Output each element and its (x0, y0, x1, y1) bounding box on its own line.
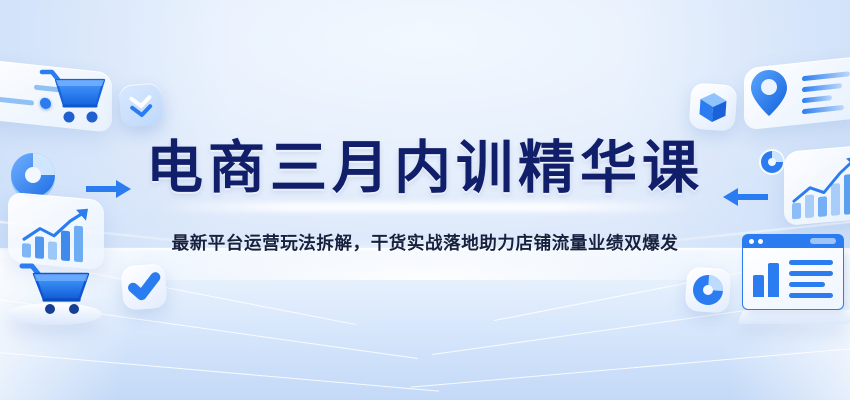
browser-text-line-1 (789, 260, 833, 265)
banner-text-block: 电商三月内训精华课 最新平台运营玩法拆解，干货实战落地助力店铺流量业绩双爆发 (0, 138, 850, 255)
browser-bar-2 (768, 263, 779, 297)
promo-banner: 电商三月内训精华课 最新平台运营玩法拆解，干货实战落地助力店铺流量业绩双爆发 (0, 0, 850, 400)
location-text-line-1 (802, 71, 850, 81)
shopping-cart-podium (16, 258, 96, 318)
banner-subtitle: 最新平台运营玩法拆解，干货实战落地助力店铺流量业绩双爆发 (0, 230, 850, 255)
browser-text-line-3 (789, 282, 825, 287)
browser-text-line-2 (789, 271, 833, 276)
location-pin-icon (748, 66, 790, 120)
double-chevron-down-tile (118, 82, 164, 128)
cube-3d-tile (688, 82, 737, 131)
slider-track-bottom (0, 96, 34, 106)
browser-bar-1 (753, 275, 764, 297)
location-text-line-2 (802, 83, 842, 92)
browser-window-pedestal (737, 310, 850, 324)
banner-title: 电商三月内训精华课 (0, 138, 850, 200)
browser-text-line-4 (789, 293, 833, 298)
title-glow-underline (155, 202, 695, 212)
checkmark-tile (121, 264, 168, 311)
location-text-line-4 (802, 105, 844, 114)
location-text-line-3 (802, 95, 832, 103)
pie-chart-tile (685, 267, 732, 314)
shopping-cart-3d (36, 62, 112, 128)
browser-content (742, 248, 844, 310)
